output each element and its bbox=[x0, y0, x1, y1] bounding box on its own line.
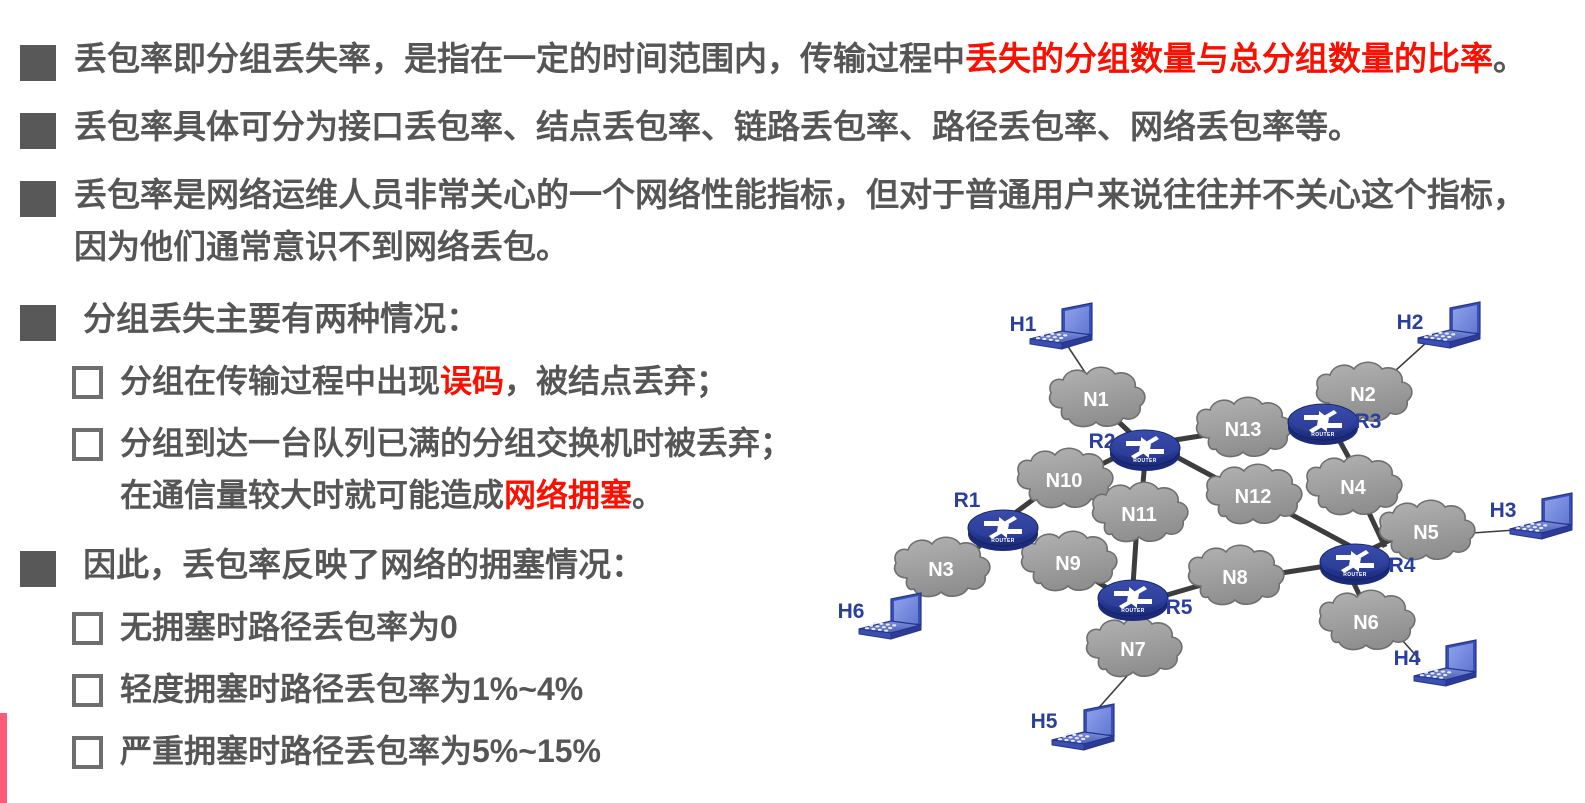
sub-bullet-text-4: 轻度拥塞时路径丢包率为1%~4% bbox=[120, 663, 583, 715]
host-h6-laptop bbox=[859, 593, 921, 639]
plain-text: 因此，丢包率反映了网络的拥塞情况： bbox=[74, 546, 644, 583]
network-cloud-n6: N6 bbox=[1320, 590, 1415, 649]
slide-root: 丢包率即分组丢失率，是指在一定的时间范围内，传输过程中丢失的分组数量与总分组数量… bbox=[0, 0, 1585, 803]
hollow-square-bullet-icon bbox=[72, 612, 103, 645]
network-cloud-n1: N1 bbox=[1050, 367, 1145, 426]
router-label-r3: R3 bbox=[1355, 410, 1382, 433]
highlighted-text: 网络拥塞 bbox=[504, 477, 632, 513]
highlighted-text: 误码 bbox=[440, 363, 504, 399]
filled-square-bullet-icon bbox=[20, 113, 56, 149]
plain-text: 丢包率是网络运维人员非常关心的一个网络性能指标，但对于普通用户来说往往并不关心这… bbox=[74, 176, 1526, 265]
network-cloud-n11: N11 bbox=[1093, 482, 1188, 541]
host-label-h5: H5 bbox=[1031, 710, 1058, 733]
bullet-item-3: 丢包率是网络运维人员非常关心的一个网络性能指标，但对于普通用户来说往往并不关心这… bbox=[0, 169, 1585, 273]
host-label-h4: H4 bbox=[1394, 647, 1421, 670]
filled-square-bullet-icon bbox=[20, 551, 56, 587]
hollow-square-bullet-icon bbox=[72, 366, 103, 399]
plain-text: 分组到达一台队列已满的分组交换机时被丢弃； 在通信量较大时就可能造成 bbox=[120, 425, 792, 513]
router-r4 bbox=[1320, 544, 1390, 585]
network-label: N4 bbox=[1340, 477, 1366, 499]
network-label: N1 bbox=[1083, 389, 1109, 411]
sub-bullet-text-3: 无拥塞时路径丢包率为0 bbox=[120, 601, 458, 653]
host-h2-laptop bbox=[1418, 302, 1480, 348]
host-label-h1: H1 bbox=[1010, 313, 1037, 336]
network-label: N13 bbox=[1225, 419, 1262, 441]
network-cloud-n12: N12 bbox=[1207, 464, 1302, 523]
network-label: N5 bbox=[1413, 522, 1439, 544]
host-label-h6: H6 bbox=[838, 600, 865, 623]
plain-text: 丢包率具体可分为接口丢包率、结点丢包率、链路丢包率、路径丢包率、网络丢包率等。 bbox=[74, 108, 1361, 145]
router-r5 bbox=[1098, 580, 1168, 621]
host-h5-laptop bbox=[1052, 704, 1114, 750]
network-cloud-n9: N9 bbox=[1022, 531, 1117, 590]
network-cloud-n4: N4 bbox=[1307, 455, 1402, 514]
host-h4-laptop bbox=[1414, 640, 1476, 686]
bullet-item-1: 丢包率即分组丢失率，是指在一定的时间范围内，传输过程中丢失的分组数量与总分组数量… bbox=[0, 33, 1585, 85]
bullet-text-2: 丢包率具体可分为接口丢包率、结点丢包率、链路丢包率、路径丢包率、网络丢包率等。 bbox=[74, 101, 1361, 153]
sub-bullet-text-5: 严重拥塞时路径丢包率为5%~15% bbox=[120, 725, 601, 777]
router-label-r4: R4 bbox=[1389, 554, 1416, 577]
bullet-text-4: 分组丢失主要有两种情况： bbox=[74, 293, 479, 345]
hollow-square-bullet-icon bbox=[72, 674, 103, 707]
network-cloud-n5: N5 bbox=[1380, 500, 1475, 559]
host-label-h2: H2 bbox=[1397, 311, 1424, 334]
highlighted-text: 丢失的分组数量与总分组数量的比率 bbox=[965, 40, 1493, 77]
router-r1 bbox=[968, 510, 1038, 551]
plain-text: 分组丢失主要有两种情况： bbox=[74, 300, 479, 337]
network-label: N2 bbox=[1350, 384, 1376, 406]
plain-text: 轻度拥塞时路径丢包率为1%~4% bbox=[120, 671, 583, 707]
host-h3-laptop bbox=[1510, 493, 1572, 539]
plain-text: 。 bbox=[1493, 40, 1526, 77]
network-label: N7 bbox=[1120, 639, 1146, 661]
network-topology-diagram: ROUTER bbox=[815, 285, 1585, 803]
router-label-r1: R1 bbox=[954, 489, 981, 512]
plain-text: 无拥塞时路径丢包率为0 bbox=[120, 609, 458, 645]
network-label: N10 bbox=[1046, 470, 1083, 492]
bullet-text-5: 因此，丢包率反映了网络的拥塞情况： bbox=[74, 539, 644, 591]
host-label-h3: H3 bbox=[1490, 499, 1517, 522]
plain-text: 丢包率即分组丢失率，是指在一定的时间范围内，传输过程中 bbox=[74, 40, 965, 77]
bullet-text-1: 丢包率即分组丢失率，是指在一定的时间范围内，传输过程中丢失的分组数量与总分组数量… bbox=[74, 33, 1526, 85]
network-label: N6 bbox=[1353, 612, 1379, 634]
filled-square-bullet-icon bbox=[20, 305, 56, 341]
network-cloud-n8: N8 bbox=[1189, 545, 1284, 604]
bullet-text-3: 丢包率是网络运维人员非常关心的一个网络性能指标，但对于普通用户来说往往并不关心这… bbox=[74, 169, 1526, 273]
hollow-square-bullet-icon bbox=[72, 428, 103, 461]
sub-bullet-text-2: 分组到达一台队列已满的分组交换机时被丢弃； 在通信量较大时就可能造成网络拥塞。 bbox=[120, 417, 792, 521]
router-label-r2: R2 bbox=[1089, 430, 1116, 453]
plain-text: 。 bbox=[632, 477, 664, 513]
bullet-item-2: 丢包率具体可分为接口丢包率、结点丢包率、链路丢包率、路径丢包率、网络丢包率等。 bbox=[0, 101, 1585, 153]
network-label: N3 bbox=[928, 559, 954, 581]
host-h1-laptop bbox=[1030, 303, 1092, 349]
hollow-square-bullet-icon bbox=[72, 736, 103, 769]
network-label: N11 bbox=[1121, 504, 1157, 526]
filled-square-bullet-icon bbox=[20, 181, 56, 217]
network-cloud-n7: N7 bbox=[1087, 617, 1182, 676]
sub-bullet-text-1: 分组在传输过程中出现误码，被结点丢弃； bbox=[120, 355, 728, 407]
router-r2 bbox=[1110, 430, 1180, 471]
router-r3 bbox=[1288, 404, 1358, 445]
router-label-r5: R5 bbox=[1166, 596, 1193, 619]
plain-text: 严重拥塞时路径丢包率为5%~15% bbox=[120, 733, 601, 769]
network-cloud-n3: N3 bbox=[895, 537, 990, 596]
plain-text: 分组在传输过程中出现 bbox=[120, 363, 440, 399]
filled-square-bullet-icon bbox=[20, 45, 56, 81]
network-label: N8 bbox=[1222, 567, 1248, 589]
network-label: N12 bbox=[1235, 486, 1272, 508]
network-label: N9 bbox=[1055, 553, 1081, 575]
network-cloud-n13: N13 bbox=[1197, 397, 1292, 456]
plain-text: ，被结点丢弃； bbox=[504, 363, 728, 399]
